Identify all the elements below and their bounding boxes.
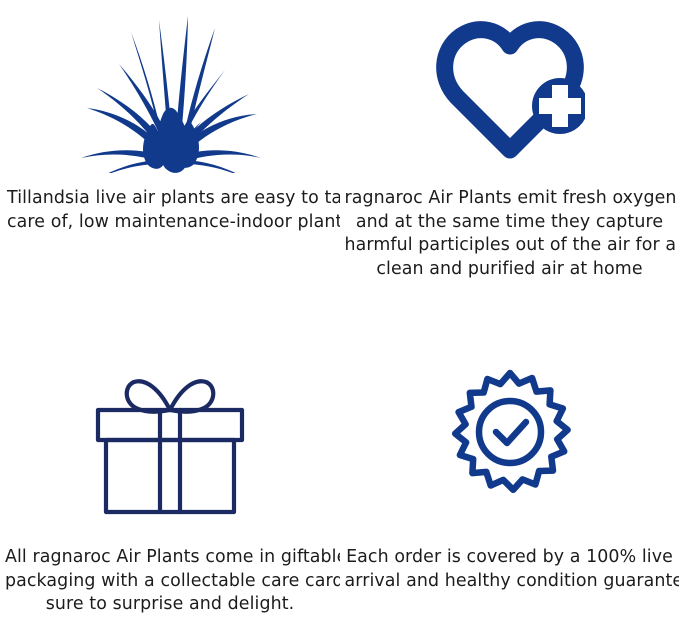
gift-box-icon xyxy=(84,364,256,520)
feature-cell-oxygen: ragnaroc Air Plants emit fresh oxygen an… xyxy=(340,0,679,308)
feature-cell-plants: Tillandsia live air plants are easy to t… xyxy=(0,0,340,308)
caption-line: care of, low maintenance-indoor plants. xyxy=(7,211,338,235)
feature-grid: Tillandsia live air plants are easy to t… xyxy=(0,0,679,617)
caption-line: ragnaroc Air Plants emit fresh oxygen xyxy=(345,187,675,211)
feature-caption-plants: Tillandsia live air plants are easy to t… xyxy=(2,187,338,234)
heart-plus-icon xyxy=(435,20,585,166)
feature-cell-gift: All ragnaroc Air Plants come in giftable… xyxy=(0,308,340,617)
caption-line: All ragnaroc Air Plants come in giftable xyxy=(5,546,335,570)
feature-caption-gift: All ragnaroc Air Plants come in giftable… xyxy=(5,546,335,617)
verified-badge-check-icon xyxy=(440,367,580,517)
caption-line: packaging with a collectable care card xyxy=(5,570,335,594)
caption-line: arrival and healthy condition guarantee. xyxy=(345,570,675,594)
caption-line: Each order is covered by a 100% live xyxy=(345,546,675,570)
caption-line: and at the same time they capture xyxy=(345,211,675,235)
tillandsia-air-plant-icon xyxy=(75,8,265,177)
icon-well-guarantee xyxy=(340,308,679,542)
feature-caption-oxygen: ragnaroc Air Plants emit fresh oxygen an… xyxy=(345,187,675,281)
feature-cell-guarantee: Each order is covered by a 100% live arr… xyxy=(340,308,679,617)
caption-line: sure to surprise and delight. xyxy=(5,593,335,617)
icon-well-gift xyxy=(0,308,340,542)
caption-line: Tillandsia live air plants are easy to t… xyxy=(7,187,338,211)
icon-well-oxygen xyxy=(340,0,679,185)
caption-line: clean and purified air at home xyxy=(345,258,675,282)
caption-line: harmful participles out of the air for a xyxy=(345,234,675,258)
feature-caption-guarantee: Each order is covered by a 100% live arr… xyxy=(345,546,675,593)
icon-well-plants xyxy=(0,0,340,185)
